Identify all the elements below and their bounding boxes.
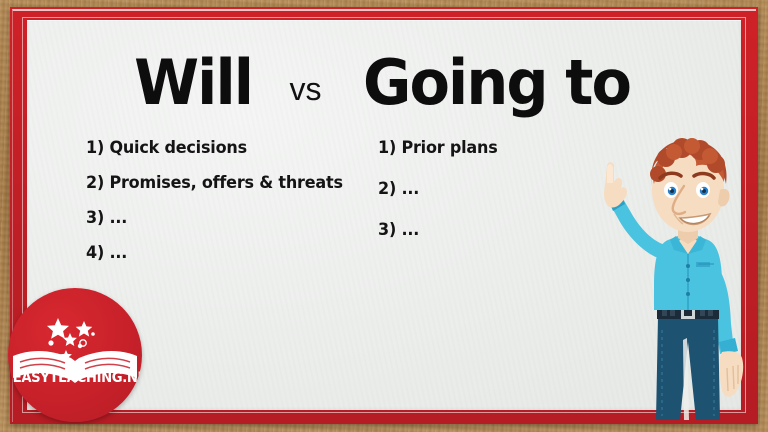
cartoon-character xyxy=(588,128,768,432)
easyteaching-logo[interactable]: EASYTEACHING.NET xyxy=(8,288,142,422)
head xyxy=(650,138,730,232)
slide-canvas: Will vs Going to 1) Quick decisions 2) P… xyxy=(0,0,768,432)
list-item: 2) Promises, offers & threats xyxy=(86,173,332,192)
list-item: 4) ... xyxy=(86,243,332,262)
column-will: 1) Quick decisions 2) Promises, offers &… xyxy=(0,138,340,278)
title-will: Will xyxy=(134,52,252,114)
man-pointing-up-illustration xyxy=(588,128,768,432)
title-separator-vs: vs xyxy=(290,73,322,105)
title-going-to: Going to xyxy=(363,52,630,114)
right-hand xyxy=(720,351,744,396)
headline: Will vs Going to xyxy=(0,42,768,124)
jeans xyxy=(656,316,720,420)
open-book-icon xyxy=(8,288,142,422)
list-item: 3) ... xyxy=(86,208,332,227)
logo-text: EASYTEACHING.NET xyxy=(13,370,138,386)
list-item: 1) Quick decisions xyxy=(86,138,332,157)
